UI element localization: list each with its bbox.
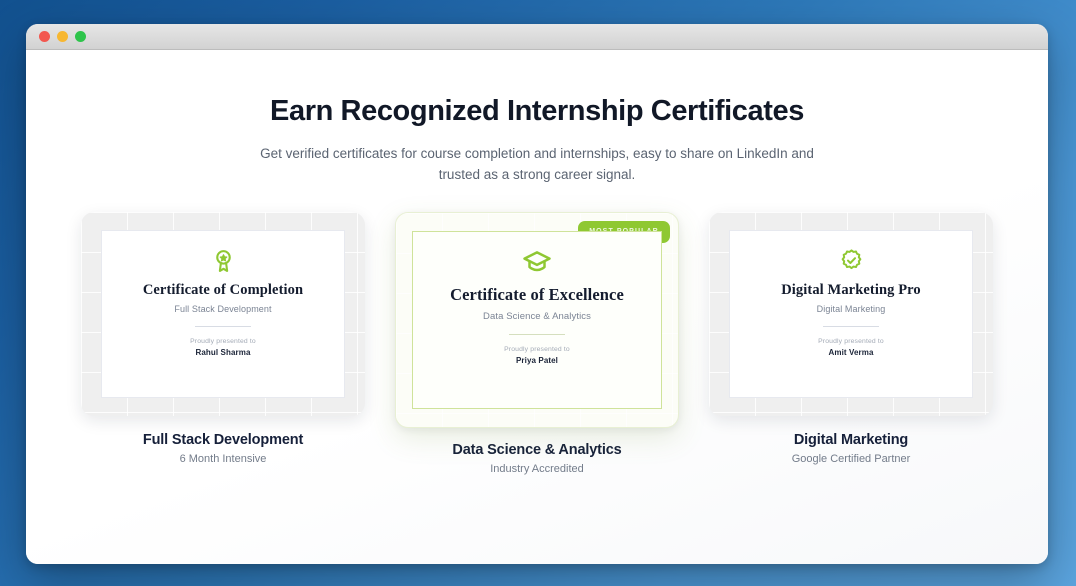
card-caption: Full Stack Development 6 Month Intensive <box>143 432 303 465</box>
card-caption-subtitle: Industry Accredited <box>452 463 621 475</box>
certificate-paper: Certificate of Completion Full Stack Dev… <box>101 230 345 398</box>
card-caption-title: Full Stack Development <box>143 432 303 448</box>
page-subtitle: Get verified certificates for course com… <box>247 144 827 186</box>
certificate-paper: Certificate of Excellence Data Science &… <box>412 231 662 409</box>
minimize-button[interactable] <box>57 31 68 42</box>
certificate-frame: Digital Marketing Pro Digital Marketing … <box>709 212 993 416</box>
certificate-recipient: Priya Patel <box>516 356 558 365</box>
certificate-subject: Full Stack Development <box>174 304 271 314</box>
certificate-card-data-science-analytics[interactable]: MOST POPULAR Certificate of Excellence D… <box>393 212 681 475</box>
certificate-frame: MOST POPULAR Certificate of Excellence D… <box>395 212 679 428</box>
certificate-recipient: Amit Verma <box>828 348 873 357</box>
certificate-title: Certificate of Completion <box>143 282 303 299</box>
card-caption-title: Data Science & Analytics <box>452 442 621 458</box>
certificate-title: Certificate of Excellence <box>450 286 624 305</box>
certificate-divider <box>823 326 879 327</box>
maximize-button[interactable] <box>75 31 86 42</box>
browser-window: Earn Recognized Internship Certificates … <box>26 24 1048 564</box>
certificate-presented-label: Proudly presented to <box>190 338 256 345</box>
verified-badge-icon <box>839 248 864 273</box>
card-caption-subtitle: Google Certified Partner <box>792 453 911 465</box>
browser-title-bar <box>26 24 1048 50</box>
certificate-divider <box>509 334 565 335</box>
page-content: Earn Recognized Internship Certificates … <box>26 50 1048 564</box>
certificate-title: Digital Marketing Pro <box>781 282 921 299</box>
close-button[interactable] <box>39 31 50 42</box>
card-caption: Digital Marketing Google Certified Partn… <box>792 432 911 465</box>
certificate-cards-row: Certificate of Completion Full Stack Dev… <box>26 212 1048 475</box>
card-caption-subtitle: 6 Month Intensive <box>143 453 303 465</box>
graduation-cap-icon <box>522 248 552 278</box>
certificate-frame: Certificate of Completion Full Stack Dev… <box>81 212 365 416</box>
certificate-card-full-stack-development[interactable]: Certificate of Completion Full Stack Dev… <box>79 212 367 465</box>
card-caption-title: Digital Marketing <box>792 432 911 448</box>
certificate-paper: Digital Marketing Pro Digital Marketing … <box>729 230 973 398</box>
certificate-divider <box>195 326 251 327</box>
award-medal-icon <box>211 248 236 273</box>
certificate-presented-label: Proudly presented to <box>504 346 570 353</box>
certificate-presented-label: Proudly presented to <box>818 338 884 345</box>
certificate-recipient: Rahul Sharma <box>196 348 251 357</box>
certificate-subject: Data Science & Analytics <box>483 311 591 322</box>
certificate-subject: Digital Marketing <box>817 304 886 314</box>
page-title: Earn Recognized Internship Certificates <box>26 94 1048 129</box>
certificate-card-digital-marketing[interactable]: Digital Marketing Pro Digital Marketing … <box>707 212 995 465</box>
card-caption: Data Science & Analytics Industry Accred… <box>452 442 621 475</box>
